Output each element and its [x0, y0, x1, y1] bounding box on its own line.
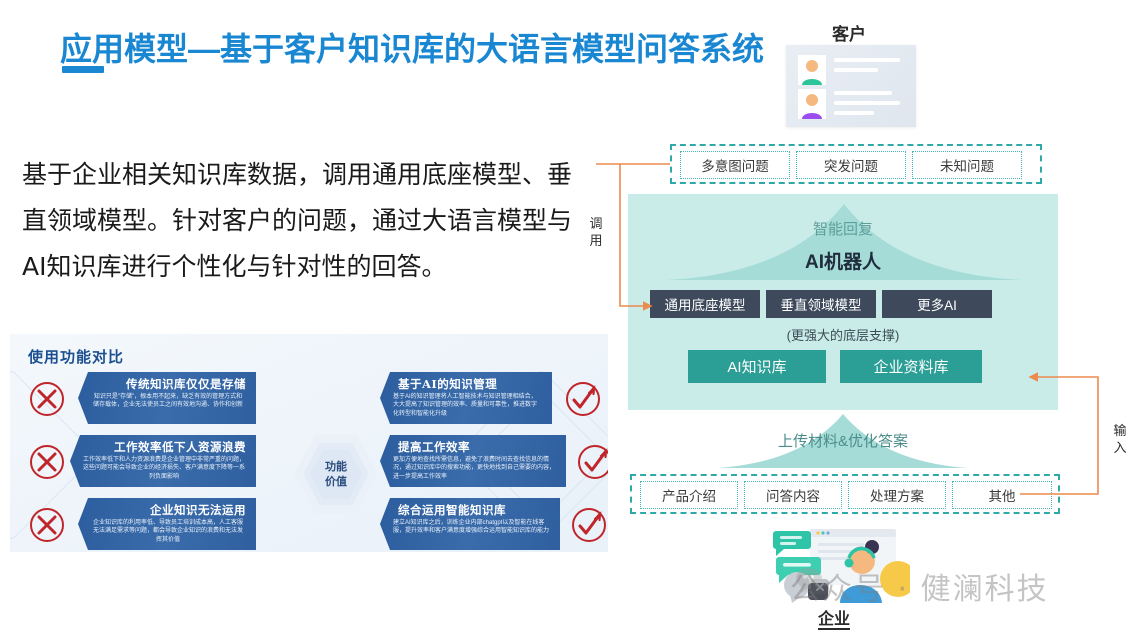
- question-types-band: 多意图问题 突发问题 未知问题: [670, 144, 1042, 184]
- question-chip-1[interactable]: 突发问题: [796, 151, 906, 179]
- check-icon: [572, 508, 606, 542]
- check-icon: [566, 382, 600, 416]
- knowledge-base-chip-1[interactable]: 企业资料库: [840, 350, 982, 383]
- placeholder-line: [834, 91, 892, 95]
- compare-card-heading: 提高工作效率: [380, 435, 566, 455]
- model-chip-2[interactable]: 更多AI: [882, 290, 992, 318]
- enterprise-label: 企业: [818, 605, 850, 629]
- compare-card: 工作效率低下人资源浪费 工作效率低下和人力资源浪费是企业管理中非常严重的问题，这…: [70, 435, 256, 487]
- question-chip-0[interactable]: 多意图问题: [680, 151, 790, 179]
- compare-card-body: 知识只是"存储"，根本用不起来，缺乏有效的管理方式和储存载体，企业无法使员工之间…: [78, 392, 256, 410]
- material-chip-2[interactable]: 处理方案: [848, 481, 946, 509]
- compare-card-heading: 工作效率低下人资源浪费: [70, 435, 256, 455]
- compare-card: 企业知识无法运用 企业知识库的利用率低、导致员工培训成本高，人工客服无法满足需求…: [78, 498, 256, 550]
- page-title: 应用模型—基于客户知识库的大语言模型问答系统: [60, 24, 764, 70]
- compare-card-body: 基于AI的知识管理将人工智能技术与知识管理相结合，大大提高了知识管理的效率、质量…: [380, 392, 552, 418]
- compare-card-body: 工作效率低下和人力资源浪费是企业管理中非常严重的问题，这些问题可能会导致企业的经…: [70, 455, 256, 481]
- placeholder-line: [834, 58, 900, 62]
- placeholder-line: [834, 68, 878, 72]
- ai-robot-title: AI机器人: [628, 247, 1058, 274]
- title-underline: [62, 66, 104, 73]
- compare-card-heading: 综合运用智能知识库: [380, 498, 560, 518]
- upload-text: 上传材料&优化答案: [628, 430, 1058, 451]
- compare-row-negative: 工作效率低下人资源浪费 工作效率低下和人力资源浪费是企业管理中非常严重的问题，这…: [30, 435, 300, 487]
- compare-card: 传统知识库仅仅是存储 知识只是"存储"，根本用不起来，缺乏有效的管理方式和储存载…: [78, 372, 256, 424]
- compare-row-positive: 综合运用智能知识库 建立AI知识库之后，训练企业内部chatgpt以及智能在线客…: [380, 498, 608, 550]
- value-badge-line1: 功能: [325, 459, 347, 474]
- compare-panel-title: 使用功能对比: [28, 346, 124, 367]
- compare-card-body: 企业知识库的利用率低、导致员工培训成本高，人工客服无法满足需求等问题，都会导致企…: [78, 518, 256, 544]
- model-chip-0[interactable]: 通用底座模型: [650, 290, 760, 318]
- compare-card: 提高工作效率 更加方便地查找所需信息，避免了浪费时间去查找信息的情况，通过知识库…: [380, 435, 566, 487]
- value-badge-label: 功能 价值: [294, 432, 378, 516]
- compare-card-body: 建立AI知识库之后，训练企业内部chatgpt以及智能在线客服，提升效率和客户满…: [380, 518, 560, 536]
- customer-label: 客户: [832, 20, 866, 45]
- compare-panel: 使用功能对比 传统知识库仅仅是存储 知识只是"存储"，根本用不起来，缺乏有效的管…: [10, 334, 608, 552]
- materials-band: 产品介绍 问答内容 处理方案 其他: [630, 474, 1060, 514]
- cross-icon: [30, 445, 64, 479]
- compare-card-body: 更加方便地查找所需信息，避免了浪费时间去查找信息的情况，通过知识库中的搜索功能，…: [380, 455, 566, 481]
- material-chip-3[interactable]: 其他: [952, 481, 1052, 509]
- avatar: [798, 55, 826, 85]
- compare-row-negative: 企业知识无法运用 企业知识库的利用率低、导致员工培训成本高，人工客服无法满足需求…: [30, 498, 300, 550]
- check-icon: [578, 445, 608, 479]
- avatar: [798, 89, 826, 119]
- value-badge: 功能 价值: [294, 432, 378, 516]
- watermark-text: 公众号 · 健澜科技: [790, 564, 1049, 608]
- slide-canvas: 应用模型—基于客户知识库的大语言模型问答系统 基于企业相关知识库数据，调用通用底…: [0, 0, 1134, 631]
- material-chip-0[interactable]: 产品介绍: [640, 481, 738, 509]
- ai-panel: 智能回复 AI机器人 通用底座模型 垂直领域模型 更多AI (更强大的底层支撑)…: [628, 194, 1058, 410]
- placeholder-line: [834, 111, 874, 115]
- compare-card: 基于AI的知识管理 基于AI的知识管理将人工智能技术与知识管理相结合，大大提高了…: [380, 372, 552, 424]
- compare-card-heading: 基于AI的知识管理: [380, 372, 552, 392]
- question-chip-2[interactable]: 未知问题: [912, 151, 1022, 179]
- model-chip-1[interactable]: 垂直领域模型: [766, 290, 876, 318]
- material-chip-1[interactable]: 问答内容: [744, 481, 842, 509]
- support-note: (更强大的底层支撑): [628, 325, 1058, 344]
- intro-paragraph: 基于企业相关知识库数据，调用通用底座模型、垂直领域模型。针对客户的问题，通过大语…: [22, 152, 582, 290]
- placeholder-line: [834, 101, 900, 105]
- compare-card-heading: 传统知识库仅仅是存储: [78, 372, 256, 392]
- customer-card: [786, 45, 916, 127]
- compare-card: 综合运用智能知识库 建立AI知识库之后，训练企业内部chatgpt以及智能在线客…: [380, 498, 560, 550]
- knowledge-base-chip-0[interactable]: AI知识库: [688, 350, 826, 383]
- compare-row-negative: 传统知识库仅仅是存储 知识只是"存储"，根本用不起来，缺乏有效的管理方式和储存载…: [30, 372, 300, 424]
- input-label: 输入: [1113, 422, 1127, 456]
- compare-row-positive: 基于AI的知识管理 基于AI的知识管理将人工智能技术与知识管理相结合，大大提高了…: [380, 372, 608, 424]
- compare-row-positive: 提高工作效率 更加方便地查找所需信息，避免了浪费时间去查找信息的情况，通过知识库…: [380, 435, 608, 487]
- compare-card-heading: 企业知识无法运用: [78, 498, 256, 518]
- cross-icon: [30, 508, 64, 542]
- value-badge-line2: 价值: [325, 474, 347, 489]
- call-label: 调用: [589, 215, 603, 249]
- cross-icon: [30, 382, 64, 416]
- enterprise-label-text: 企业: [818, 611, 850, 630]
- ai-reply-text: 智能回复: [628, 218, 1058, 239]
